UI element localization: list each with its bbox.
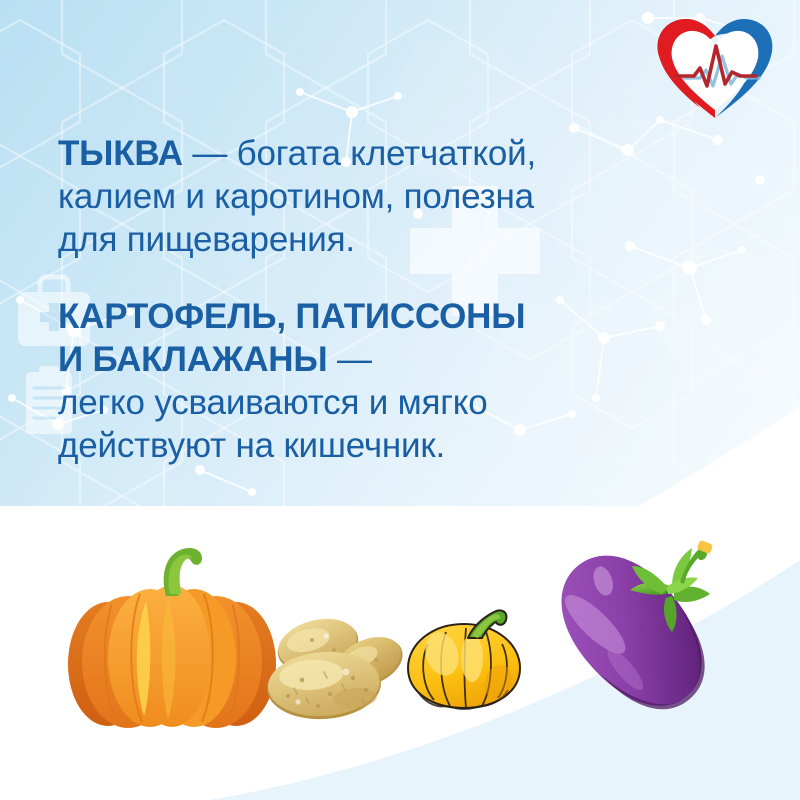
patisson-illustration [398,602,530,720]
pumpkin-line-2: калием и каротином, полезна [58,175,678,218]
pumpkin-paragraph: ТЫКВА — богата клетчаткой, калием и каро… [58,132,678,261]
potato-keyword: И БАКЛАЖАНЫ [58,340,327,379]
potato-line-2-rest: — [327,340,371,379]
poster-canvas: ТЫКВА — богата клетчаткой, калием и каро… [0,0,800,800]
pumpkin-line-3: для пищеварения. [58,218,678,261]
pumpkin-line-1-rest: — богата клетчаткой, [183,134,536,173]
pumpkin-line-1: ТЫКВА — богата клетчаткой, [58,132,678,175]
pumpkin-keyword: ТЫКВА [58,134,183,173]
potato-line-4: действуют на кишечник. [58,424,678,467]
potato-paragraph: КАРТОФЕЛЬ, ПАТИССОНЫ И БАКЛАЖАНЫ — легко… [58,295,678,467]
potato-line-3: легко усваиваются и мягко [58,381,678,424]
eggplant-illustration [552,528,724,728]
pumpkin-illustration [62,536,282,736]
potato-line-1: КАРТОФЕЛЬ, ПАТИССОНЫ [58,295,678,338]
heart-ecg-logo [652,14,778,126]
copy-block: ТЫКВА — богата клетчаткой, калием и каро… [58,132,678,467]
potato-line-2: И БАКЛАЖАНЫ — [58,338,678,381]
potatoes-illustration [258,604,404,724]
